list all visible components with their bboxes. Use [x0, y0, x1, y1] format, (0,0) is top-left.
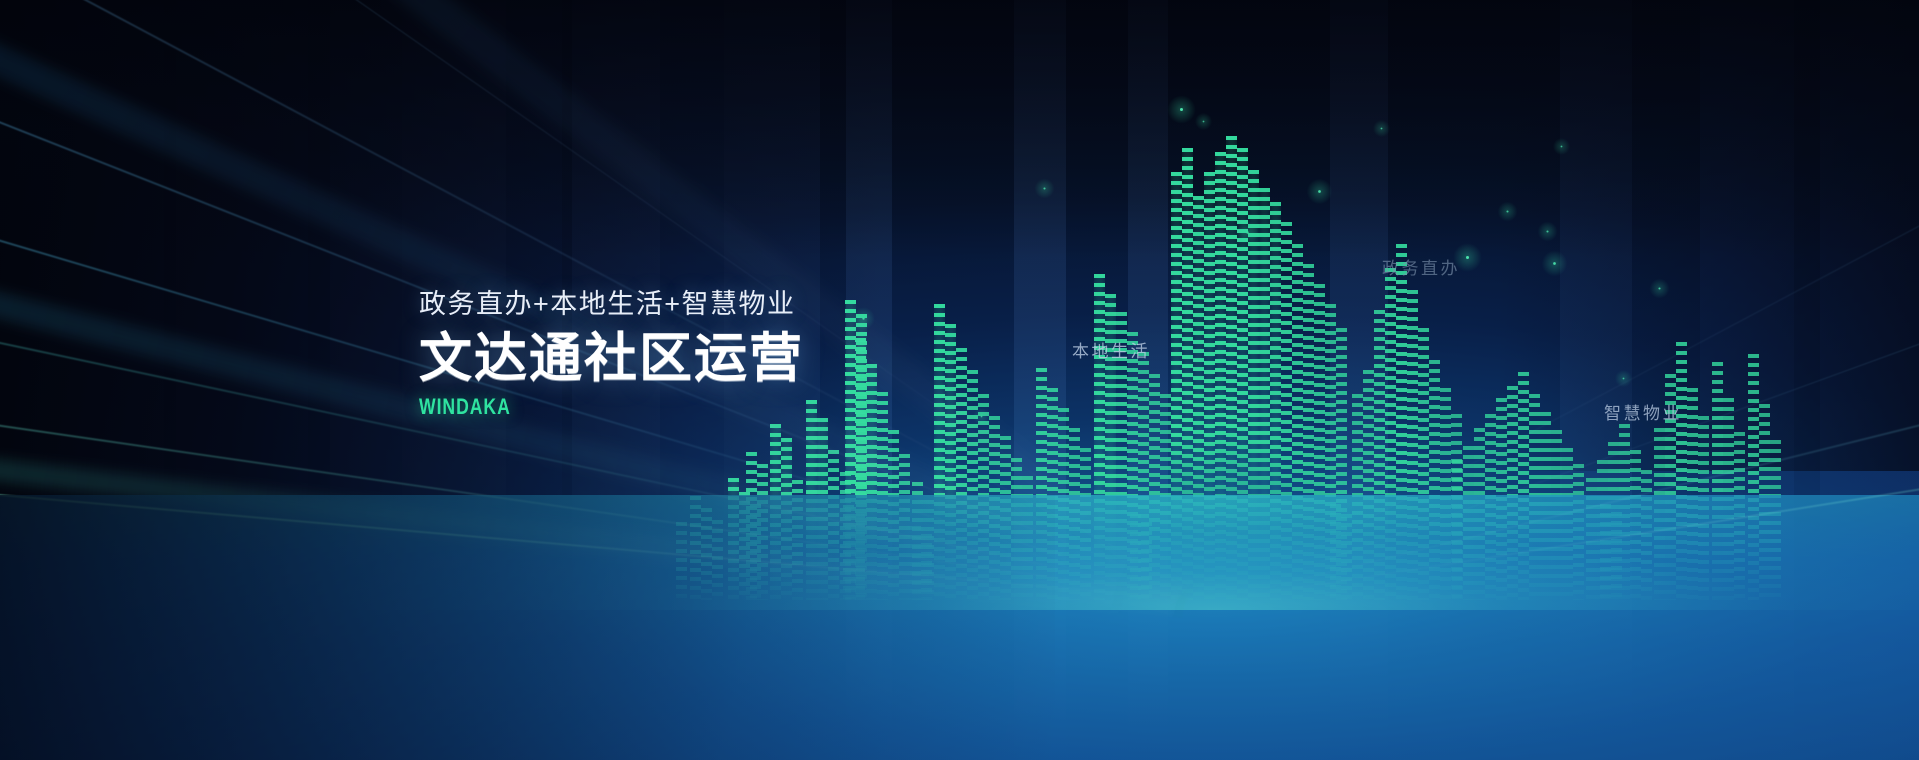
hero-subtitle: 政务直办+本地生活+智慧物业	[419, 290, 804, 320]
hero-banner: 本地生活政务直办智慧物业 政务直办+本地生活+智慧物业 文达通社区运营 WIND…	[0, 0, 1919, 760]
city-label-local-life: 本地生活	[1072, 337, 1150, 362]
ground-left-shadow	[0, 495, 1055, 760]
hero-title: 文达通社区运营	[419, 330, 804, 387]
hero-copy: 政务直办+本地生活+智慧物业 文达通社区运营 WINDAKA	[419, 290, 804, 418]
city-label-gov-service: 政务直办	[1382, 254, 1460, 279]
brand-wordmark: WINDAKA	[419, 396, 727, 418]
city-label-smart-estate: 智慧物业	[1604, 399, 1682, 424]
